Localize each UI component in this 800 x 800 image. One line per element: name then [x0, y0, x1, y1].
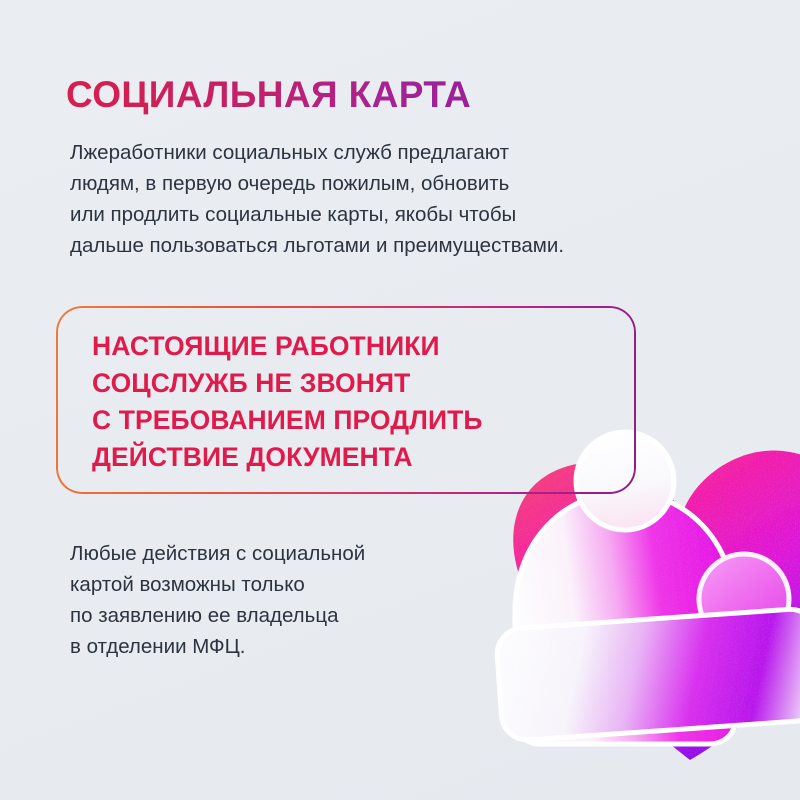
callout-line: СОЦСЛУЖБ НЕ ЗВОНЯТ: [92, 365, 632, 402]
callout-line: НАСТОЯЩИЕ РАБОТНИКИ: [92, 328, 632, 365]
page-title: СОЦИАЛЬНАЯ КАРТА: [66, 73, 471, 117]
outro-line: в отделении МФЦ.: [70, 631, 500, 662]
outro-line: картой возможны только: [70, 569, 500, 600]
heart-shape: [513, 451, 800, 760]
intro-paragraph: Лжеработники социальных служб предлагают…: [70, 137, 670, 261]
callout-line: С ТРЕБОВАНИЕМ ПРОДЛИТЬ: [92, 402, 632, 439]
intro-line: людям, в первую очередь пожилым, обновит…: [70, 168, 670, 199]
intro-line: Лжеработники социальных служб предлагают: [70, 137, 670, 168]
intro-line: дальше пользоваться льготами и преимущес…: [70, 230, 670, 261]
callout-text: НАСТОЯЩИЕ РАБОТНИКИ СОЦСЛУЖБ НЕ ЗВОНЯТ С…: [92, 328, 632, 476]
outro-line: по заявлению ее владельца: [70, 600, 500, 631]
poster-canvas: СОЦИАЛЬНАЯ КАРТА Лжеработники социальных…: [0, 0, 800, 800]
warning-callout: НАСТОЯЩИЕ РАБОТНИКИ СОЦСЛУЖБ НЕ ЗВОНЯТ С…: [56, 306, 636, 494]
callout-line: ДЕЙСТВИЕ ДОКУМЕНТА: [92, 439, 632, 476]
intro-line: или продлить социальные карты, якобы что…: [70, 199, 670, 230]
outro-line: Любые действия с социальной: [70, 538, 500, 569]
outro-paragraph: Любые действия с социальной картой возмо…: [70, 538, 500, 662]
person-body-shape: [515, 492, 735, 744]
card-rectangle: [495, 608, 800, 742]
small-accent-circle: [699, 554, 789, 644]
